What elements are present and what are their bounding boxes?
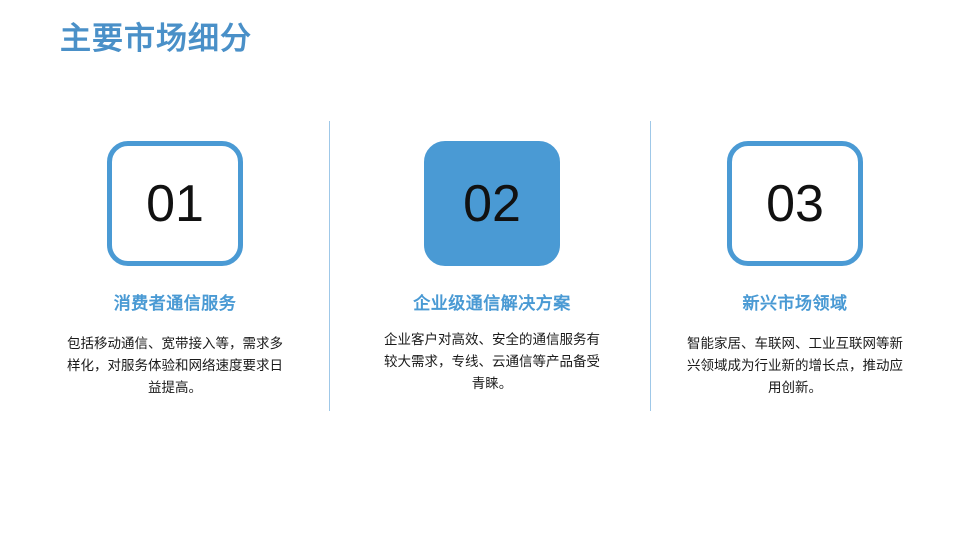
slide-canvas: 主要市场细分 01 消费者通信服务 包括移动通信、宽带接入等，需求多样化，对服务… xyxy=(0,0,960,540)
segment-heading-3: 新兴市场领域 xyxy=(645,291,945,316)
badge-wrap-3: 03 xyxy=(645,141,945,271)
badge-number-label: 01 xyxy=(146,178,204,230)
badge-number-label: 03 xyxy=(766,178,824,230)
segment-body-3: 智能家居、车联网、工业互联网等新兴领域成为行业新的增长点，推动应用创新。 xyxy=(645,333,945,399)
market-segment-card-1[interactable]: 01 消费者通信服务 包括移动通信、宽带接入等，需求多样化，对服务体验和网络速度… xyxy=(25,141,325,399)
market-segment-card-3[interactable]: 03 新兴市场领域 智能家居、车联网、工业互联网等新兴领域成为行业新的增长点，推… xyxy=(645,141,945,399)
number-badge-3: 03 xyxy=(727,141,863,266)
number-badge-2: 02 xyxy=(424,141,560,266)
columns-container: 01 消费者通信服务 包括移动通信、宽带接入等，需求多样化，对服务体验和网络速度… xyxy=(0,0,960,540)
segment-body-2: 企业客户对高效、安全的通信服务有较大需求，专线、云通信等产品备受青睐。 xyxy=(342,329,642,395)
segment-heading-1: 消费者通信服务 xyxy=(25,291,325,316)
badge-number-label: 02 xyxy=(463,178,521,230)
market-segment-card-2[interactable]: 02 企业级通信解决方案 企业客户对高效、安全的通信服务有较大需求，专线、云通信… xyxy=(342,141,642,395)
number-badge-1: 01 xyxy=(107,141,243,266)
segment-heading-2: 企业级通信解决方案 xyxy=(342,291,642,316)
segment-body-1: 包括移动通信、宽带接入等，需求多样化，对服务体验和网络速度要求日益提高。 xyxy=(25,333,325,399)
badge-wrap-1: 01 xyxy=(25,141,325,271)
badge-wrap-2: 02 xyxy=(342,141,642,271)
